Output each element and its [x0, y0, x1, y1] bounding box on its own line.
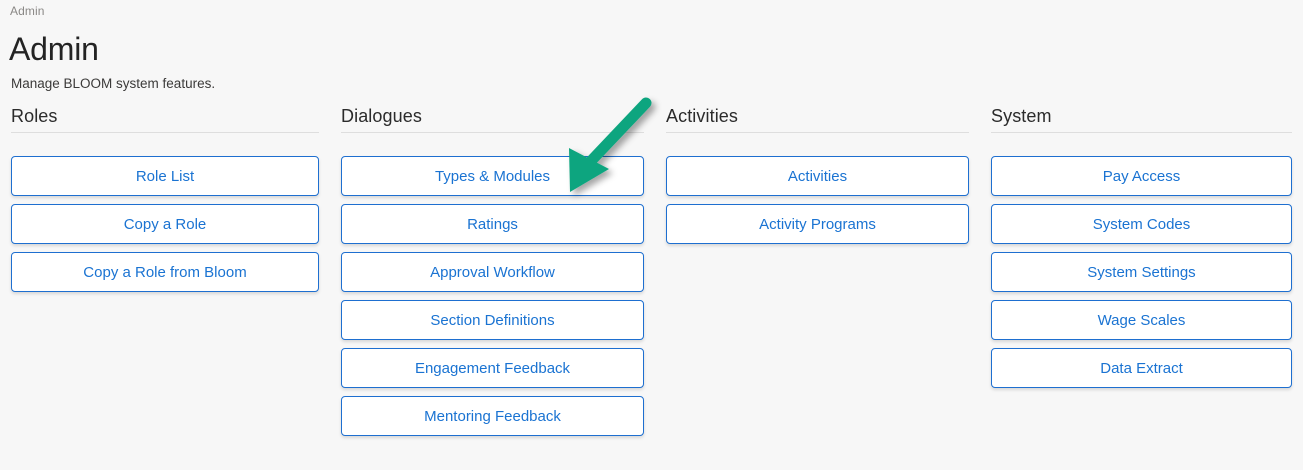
- button-types-and-modules[interactable]: Types & Modules: [341, 156, 644, 196]
- button-approval-workflow[interactable]: Approval Workflow: [341, 252, 644, 292]
- button-copy-a-role[interactable]: Copy a Role: [11, 204, 319, 244]
- button-pay-access[interactable]: Pay Access: [991, 156, 1292, 196]
- page-title: Admin: [9, 29, 99, 69]
- button-role-list[interactable]: Role List: [11, 156, 319, 196]
- admin-page: Admin Admin Manage BLOOM system features…: [0, 0, 1303, 470]
- button-list-activities: Activities Activity Programs: [666, 156, 969, 244]
- column-heading-dialogues: Dialogues: [341, 104, 644, 133]
- button-section-definitions[interactable]: Section Definitions: [341, 300, 644, 340]
- button-data-extract[interactable]: Data Extract: [991, 348, 1292, 388]
- column-system: System Pay Access System Codes System Se…: [980, 104, 1303, 436]
- column-dialogues: Dialogues Types & Modules Ratings Approv…: [330, 104, 655, 436]
- page-subtitle: Manage BLOOM system features.: [11, 75, 215, 93]
- column-heading-system: System: [991, 104, 1292, 133]
- button-activity-programs[interactable]: Activity Programs: [666, 204, 969, 244]
- button-wage-scales[interactable]: Wage Scales: [991, 300, 1292, 340]
- button-system-codes[interactable]: System Codes: [991, 204, 1292, 244]
- button-list-system: Pay Access System Codes System Settings …: [991, 156, 1292, 388]
- button-engagement-feedback[interactable]: Engagement Feedback: [341, 348, 644, 388]
- button-list-dialogues: Types & Modules Ratings Approval Workflo…: [341, 156, 644, 436]
- button-list-roles: Role List Copy a Role Copy a Role from B…: [11, 156, 319, 292]
- admin-feature-columns: Roles Role List Copy a Role Copy a Role …: [0, 104, 1303, 436]
- column-roles: Roles Role List Copy a Role Copy a Role …: [0, 104, 330, 436]
- column-heading-activities: Activities: [666, 104, 969, 133]
- column-heading-roles: Roles: [11, 104, 319, 133]
- button-activities[interactable]: Activities: [666, 156, 969, 196]
- column-activities: Activities Activities Activity Programs: [655, 104, 980, 436]
- button-ratings[interactable]: Ratings: [341, 204, 644, 244]
- button-copy-a-role-from-bloom[interactable]: Copy a Role from Bloom: [11, 252, 319, 292]
- button-system-settings[interactable]: System Settings: [991, 252, 1292, 292]
- button-mentoring-feedback[interactable]: Mentoring Feedback: [341, 396, 644, 436]
- breadcrumb[interactable]: Admin: [10, 4, 45, 18]
